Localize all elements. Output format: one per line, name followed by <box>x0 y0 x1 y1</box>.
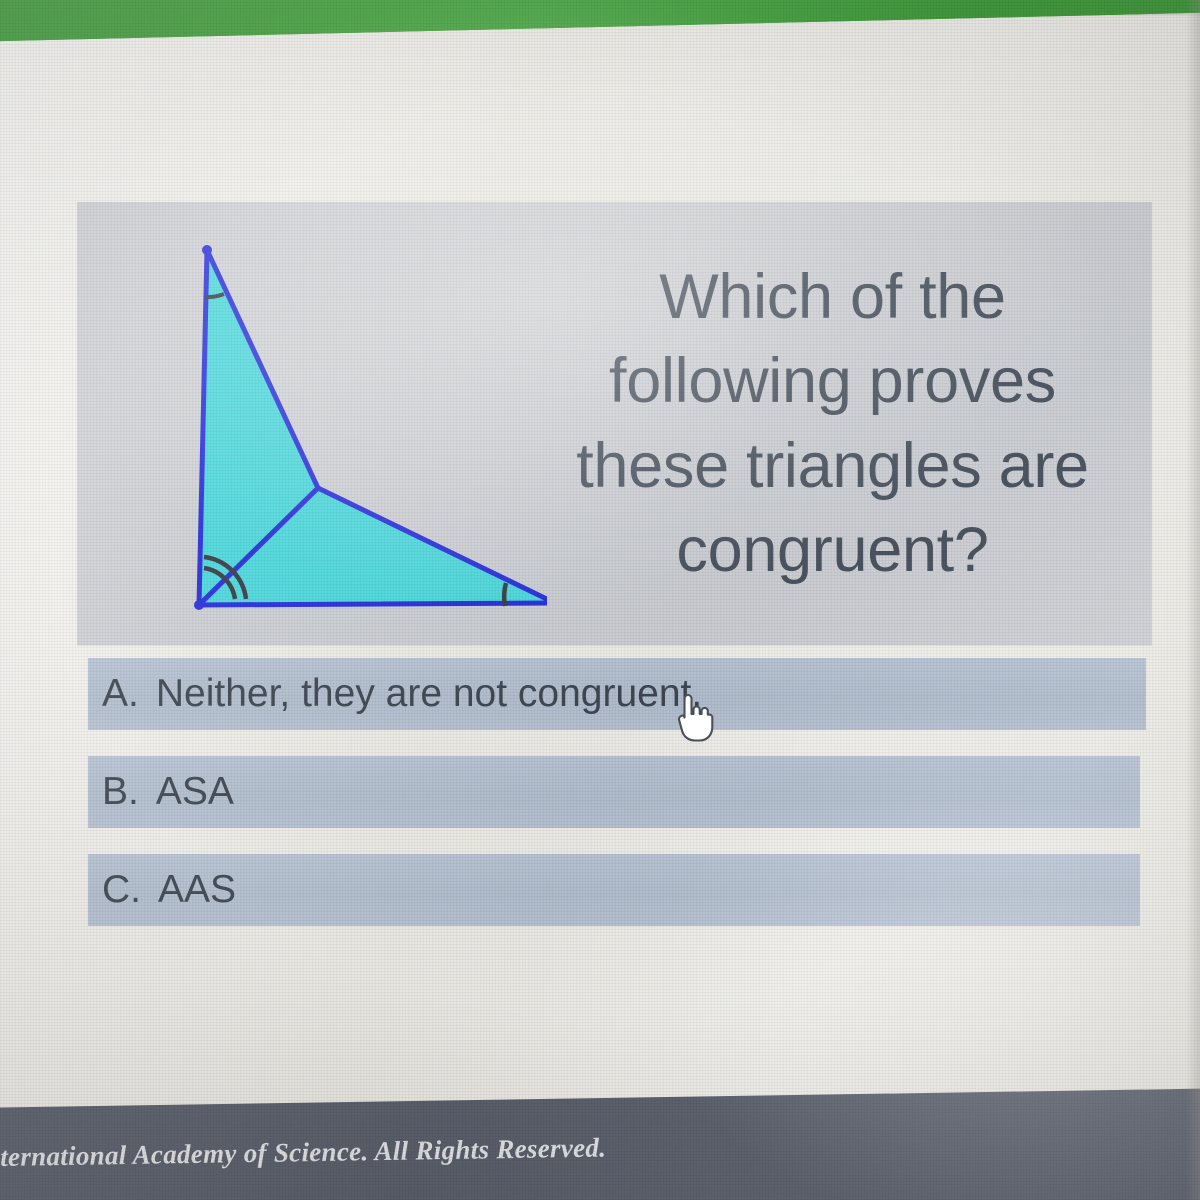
question-card: Which of the following proves these tria… <box>77 202 1152 645</box>
vertex-dot-bottom-left <box>194 600 204 610</box>
answer-label-b: ASA <box>156 770 234 814</box>
figure-pane <box>77 202 547 645</box>
answer-option-b[interactable]: B. ASA <box>88 756 1140 828</box>
answer-option-c[interactable]: C. AAS <box>88 854 1140 926</box>
two-adjacent-triangles-diagram <box>77 202 547 645</box>
prompt-pane: Which of the following proves these tria… <box>547 202 1152 645</box>
answer-letter-a: A. <box>102 672 139 716</box>
question-text: Which of the following proves these tria… <box>547 255 1118 593</box>
answer-option-a[interactable]: A. Neither, they are not congruent. <box>88 658 1146 730</box>
answer-letter-c: C. <box>102 868 141 912</box>
angle-arc-bottom-right <box>504 583 506 606</box>
photographed-screen: Which of the following proves these tria… <box>0 0 1200 1200</box>
answer-options-list: A. Neither, they are not congruent. B. A… <box>88 658 1146 926</box>
answer-letter-b: B. <box>102 770 139 814</box>
answer-label-a: Neither, they are not congruent. <box>156 672 702 716</box>
vertex-dot-top <box>202 245 212 255</box>
screen-right-edge <box>1186 0 1200 1200</box>
answer-label-c: AAS <box>158 868 236 912</box>
